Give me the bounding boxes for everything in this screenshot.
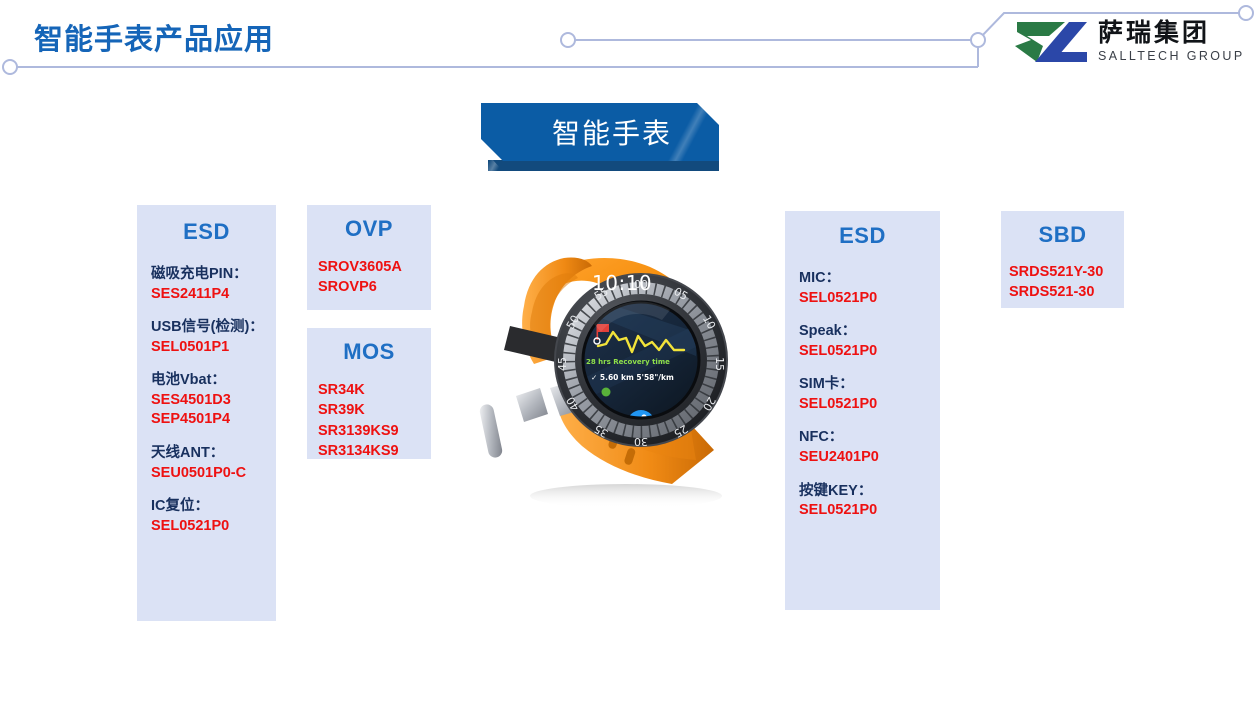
panel-sbd: SBD SRDS521Y-30 SRDS521-30 — [1001, 211, 1124, 308]
entry-label: USB信号(检测)： — [151, 318, 276, 338]
smartwatch-image: 00 05 10 15 20 25 30 35 40 45 50 55 — [466, 228, 756, 523]
company-logo: 萨瑞集团 SALLTECH GROUP — [1013, 18, 1245, 66]
entry-part: SR39K — [318, 400, 431, 420]
entry-part: SEL0521P0 — [799, 395, 940, 415]
entry-part: SEU0501P0-C — [151, 464, 276, 484]
entry-row: NFC： SEU2401P0 — [799, 428, 940, 467]
entry-label: 按键KEY： — [799, 482, 940, 502]
entry-part: SRDS521Y-30 — [1009, 262, 1124, 282]
entry-label: Speak： — [799, 322, 940, 342]
entry-part: SROVP6 — [318, 277, 431, 297]
svg-text:45: 45 — [556, 357, 569, 371]
watch-buckle — [516, 388, 548, 422]
entry-row: SIM卡： SEL0521P0 — [799, 375, 940, 414]
panel-title-esd-left: ESD — [137, 219, 276, 245]
entry-part: SEL0521P0 — [799, 289, 940, 309]
panel-title-ovp: OVP — [307, 216, 431, 242]
banner-shadow — [488, 160, 719, 171]
panel-body-esd-left: 磁吸充电PIN： SES2411P4 USB信号(检测)： SEL0501P1 … — [137, 265, 276, 536]
entry-row: USB信号(检测)： SEL0501P1 — [151, 318, 276, 357]
panel-mos: MOS SR34K SR39K SR3139KS9 SR3134KS9 — [307, 328, 431, 459]
panel-title-esd-right: ESD — [785, 223, 940, 249]
entry-label: SIM卡： — [799, 375, 940, 395]
entry-part: SEP4501P4 — [151, 410, 276, 430]
entry-part: SR34K — [318, 380, 431, 400]
salltech-logo-mark — [1013, 18, 1089, 66]
entry-label: MIC： — [799, 269, 940, 289]
entry-row: 磁吸充电PIN： SES2411P4 — [151, 265, 276, 304]
entry-part: SEL0521P0 — [151, 517, 276, 537]
smartwatch-illustration: 00 05 10 15 20 25 30 35 40 45 50 55 — [466, 228, 756, 523]
entry-part: SEU2401P0 — [799, 448, 940, 468]
logo-english-name: SALLTECH GROUP — [1098, 50, 1245, 63]
entry-part: SR3139KS9 — [318, 421, 431, 441]
entry-row: MIC： SEL0521P0 — [799, 269, 940, 308]
panel-esd-left: ESD 磁吸充电PIN： SES2411P4 USB信号(检测)： SEL050… — [137, 205, 276, 621]
panel-title-sbd: SBD — [1001, 222, 1124, 248]
entry-row: 天线ANT： SEU0501P0-C — [151, 444, 276, 483]
entry-row: IC复位： SEL0521P0 — [151, 497, 276, 536]
page-title: 智能手表产品应用 — [34, 16, 274, 58]
entry-part: SES4501D3 — [151, 391, 276, 411]
entry-label: IC复位： — [151, 497, 276, 517]
svg-text:00: 00 — [634, 278, 648, 291]
panel-body-ovp: SROV3605A SROVP6 — [307, 257, 431, 298]
entry-part: SES2411P4 — [151, 285, 276, 305]
entry-part: SRDS521-30 — [1009, 282, 1124, 302]
panel-title-mos: MOS — [307, 339, 431, 365]
panel-esd-right: ESD MIC： SEL0521P0 Speak： SEL0521P0 SIM卡… — [785, 211, 940, 610]
section-banner: 智能手表 — [481, 103, 719, 171]
svg-text:30: 30 — [634, 435, 648, 448]
entry-part: SR3134KS9 — [318, 441, 431, 461]
entry-row: Speak： SEL0521P0 — [799, 322, 940, 361]
entry-label: 电池Vbat： — [151, 371, 276, 391]
entry-part: SEL0501P1 — [151, 338, 276, 358]
logo-chinese-name: 萨瑞集团 — [1098, 21, 1245, 46]
panel-body-sbd: SRDS521Y-30 SRDS521-30 — [1001, 262, 1124, 303]
entry-label: 天线ANT： — [151, 444, 276, 464]
entry-part: SEL0521P0 — [799, 501, 940, 521]
banner-title: 智能手表 — [481, 103, 719, 161]
panel-ovp: OVP SROV3605A SROVP6 — [307, 205, 431, 310]
svg-text:15: 15 — [713, 357, 726, 371]
entry-label: 磁吸充电PIN： — [151, 265, 276, 285]
panel-body-esd-right: MIC： SEL0521P0 Speak： SEL0521P0 SIM卡： SE… — [785, 269, 940, 521]
entry-label: NFC： — [799, 428, 940, 448]
entry-part: SROV3605A — [318, 257, 431, 277]
panel-body-mos: SR34K SR39K SR3139KS9 SR3134KS9 — [307, 380, 431, 461]
entry-part: SEL0521P0 — [799, 342, 940, 362]
entry-row: 电池Vbat： SES4501D3 SEP4501P4 — [151, 371, 276, 430]
entry-row: 按键KEY： SEL0521P0 — [799, 482, 940, 521]
